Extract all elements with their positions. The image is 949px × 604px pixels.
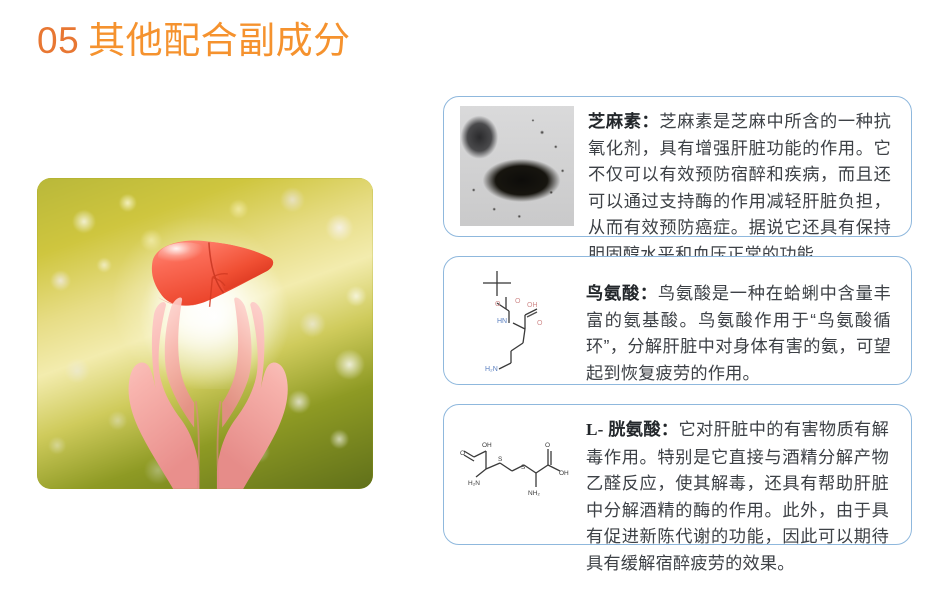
svg-text:S: S [498,456,503,463]
card-text-l-cystine: L- 胱氨酸：它对肝脏中的有害物质有解毒作用。特别是它直接与酒精分解产物乙醛反应… [576,405,911,576]
card-media-sesamin [444,97,578,226]
l-cystine-structure-diagram: OH O H₂N S S O OH NH₂ [460,435,570,511]
svg-text:OH: OH [527,302,538,309]
svg-text:O: O [460,450,465,457]
ingredient-card-sesamin: 芝麻素：芝麻素是芝麻中所含的一种抗氧化剂，具有增强肝脏功能的作用。它不仅可以有效… [443,96,912,237]
svg-text:H₂N: H₂N [485,366,498,373]
svg-text:OH: OH [559,470,569,477]
card-text-ornithine: 鸟氨酸：鸟氨酸是一种在蛤蜊中含量丰富的氨基酸。鸟氨酸作用于“鸟氨酸循环”，分解肝… [576,257,911,386]
svg-text:O: O [495,301,501,308]
hands-illustration [104,296,312,489]
svg-text:NH₂: NH₂ [528,490,540,497]
page-title-text: 其他配合副成分 [88,20,351,61]
svg-text:OH: OH [482,442,492,449]
svg-text:HN: HN [497,318,507,325]
hands-holding-liver-photo [37,178,373,489]
card-heading-l-cystine: L- 胱氨酸： [586,420,678,439]
svg-text:O: O [537,320,543,327]
svg-text:S: S [521,464,526,471]
ornithine-structure-diagram: O O OH O HN H₂N [461,263,569,375]
svg-text:H₂N: H₂N [468,480,480,487]
ingredient-card-l-cystine: OH O H₂N S S O OH NH₂ L- 胱氨酸：它对肝脏中的有害物质有… [443,404,912,545]
card-heading-ornithine: 鸟氨酸： [586,283,658,303]
ingredient-card-ornithine: O O OH O HN H₂N 鸟氨酸：鸟氨酸是一种在蛤蜊中含量丰富的氨基酸。鸟… [443,256,912,385]
card-text-sesamin: 芝麻素：芝麻素是芝麻中所含的一种抗氧化剂，具有增强肝脏功能的作用。它不仅可以有效… [578,97,911,267]
card-heading-sesamin: 芝麻素： [588,111,659,131]
black-sesame-photo [460,106,574,226]
page-title: 05其他配合副成分 [37,18,351,64]
page-title-number: 05 [37,20,79,61]
card-body-sesamin: 芝麻素是芝麻中所含的一种抗氧化剂，具有增强肝脏功能的作用。它不仅可以有效预防宿醉… [588,111,891,264]
card-media-l-cystine: OH O H₂N S S O OH NH₂ [444,405,576,511]
svg-text:O: O [545,442,550,449]
svg-text:O: O [515,298,521,305]
card-body-l-cystine: 它对肝脏中的有害物质有解毒作用。特别是它直接与酒精分解产物乙醛反应，使其解毒，还… [586,419,889,573]
card-media-ornithine: O O OH O HN H₂N [444,257,576,375]
